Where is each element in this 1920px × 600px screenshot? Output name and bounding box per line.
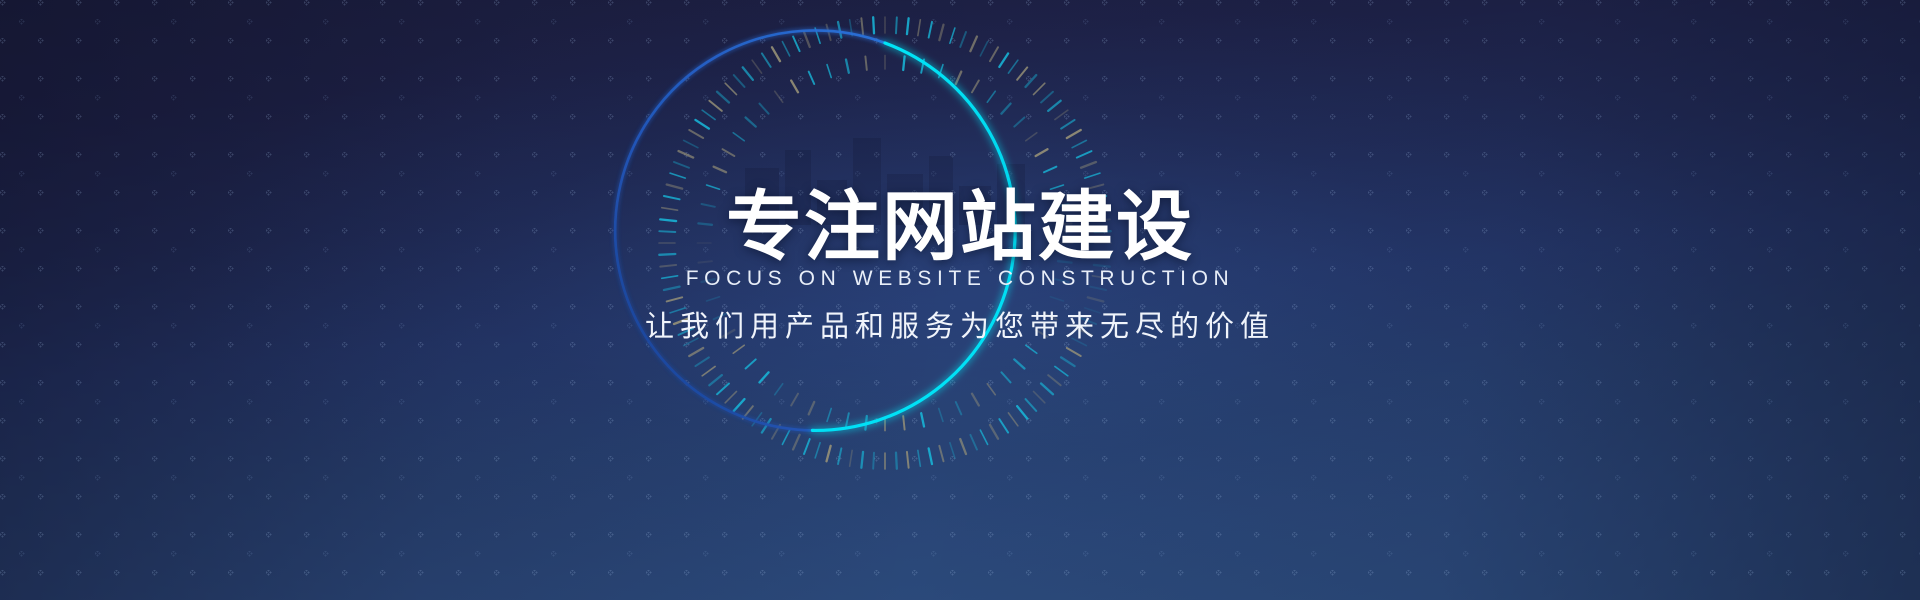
subtitle-english: FOCUS ON WEBSITE CONSTRUCTION [0,267,1920,291]
hero-banner: 专注网站建设 FOCUS ON WEBSITE CONSTRUCTION 让我们… [0,0,1920,600]
background-dot-pattern-secondary [0,0,1920,600]
subtitle-chinese: 让我们用产品和服务为您带来无尽的价值 [0,303,1920,345]
page-title: 专注网站建设 [0,189,1920,265]
